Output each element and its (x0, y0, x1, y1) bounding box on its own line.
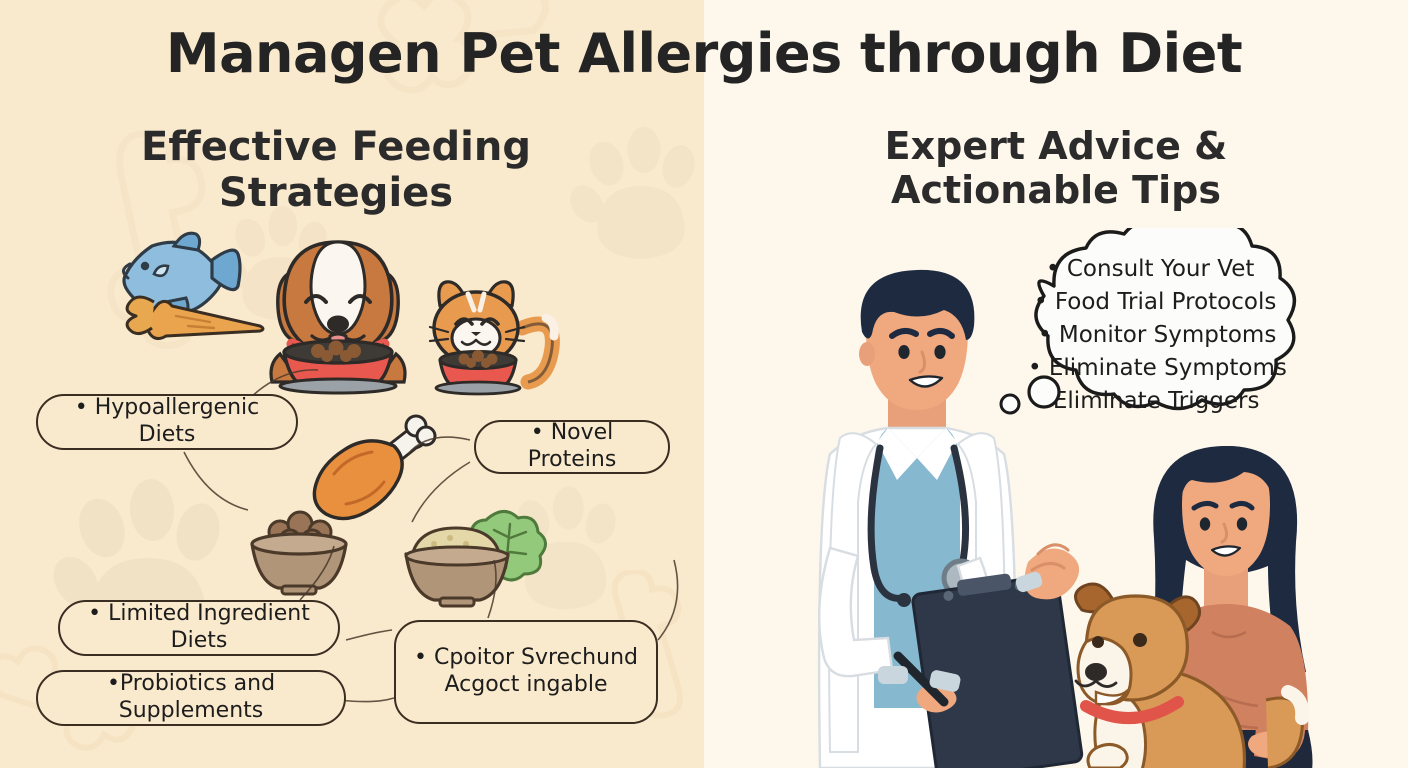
infographic-canvas: Managen Pet Allergies through Diet Effec… (0, 0, 1408, 768)
right-subtitle-line2: Actionable Tips (891, 168, 1221, 212)
garbled-line-1: • Cpoitor Svrechund (414, 645, 638, 672)
left-panel-subtitle: Effective Feeding Strategies (32, 124, 640, 216)
pill-hypoallergenic-diets[interactable]: • Hypoallergenic Diets (36, 394, 298, 450)
pill-probiotics-and-supplements[interactable]: •Probiotics and Supplements (36, 670, 346, 726)
pill-garbled-callout[interactable]: • Cpoitor Svrechund Acgoct ingable (394, 620, 658, 724)
bubble-item-1: • Food Trial Protocols (1034, 289, 1276, 315)
right-subtitle-line1: Expert Advice & (885, 124, 1228, 168)
pill-novel-proteins[interactable]: • Novel Proteins (474, 420, 670, 474)
page-title: Managen Pet Allergies through Diet (0, 22, 1408, 85)
right-panel-subtitle: Expert Advice & Actionable Tips (800, 124, 1312, 212)
pill-limited-ingredient-diets[interactable]: • Limited Ingredient Diets (58, 600, 340, 656)
bubble-item-2: • Monitor Symptoms (1038, 322, 1276, 348)
bubble-item-0: • Consult Your Vet (1046, 256, 1254, 282)
garbled-line-2: Acgoct ingable (444, 672, 607, 699)
dog-figure (1060, 580, 1320, 768)
thought-bubble-trail-icon (994, 370, 1074, 420)
